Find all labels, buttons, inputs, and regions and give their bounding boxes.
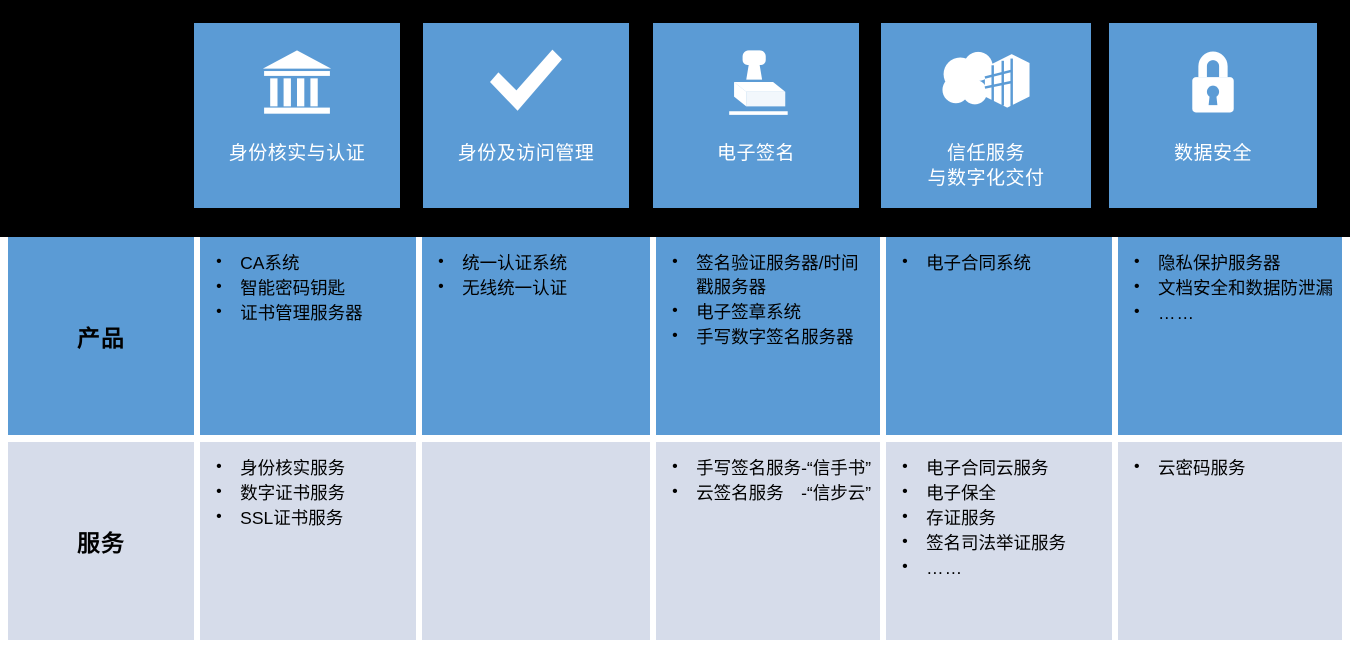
rubber-stamp-icon [653,23,859,141]
list-item: …… [1132,301,1334,325]
checkmark-icon [423,23,629,141]
bullet-list: 云密码服务 [1118,442,1342,480]
list-item: 签名司法举证服务 [900,531,1104,555]
slide-canvas: 身份核实与认证 身份及访问管理 电子签名 [0,0,1350,661]
table-cell-services-identity-access-management[interactable] [422,442,650,640]
list-item: 签名验证服务器/时间戳服务器 [670,251,872,299]
bullet-list [422,442,650,456]
table-row-products: 产品 CA系统 智能密码钥匙 证书管理服务器 统一认证系统 无线统一认证 签名验… [8,237,1342,435]
list-item: 身份核实服务 [214,456,408,480]
bullet-list: 统一认证系统 无线统一认证 [422,237,650,300]
capability-card-data-security[interactable]: 数据安全 [1109,23,1317,208]
padlock-icon [1109,23,1317,141]
table-cell-products-identity-access-management[interactable]: 统一认证系统 无线统一认证 [422,237,650,435]
bullet-list: 电子合同系统 [886,237,1112,275]
list-item: 数字证书服务 [214,481,408,505]
list-item: CA系统 [214,251,408,275]
list-item: 电子保全 [900,481,1104,505]
capability-card-label: 身份及访问管理 [458,141,595,166]
bullet-list: 身份核实服务 数字证书服务 SSL证书服务 [200,442,416,530]
bullet-list: 签名验证服务器/时间戳服务器 电子签章系统 手写数字签名服务器 [656,237,880,349]
list-item: 智能密码钥匙 [214,276,408,300]
list-item: 证书管理服务器 [214,301,408,325]
list-item: 电子合同系统 [900,251,1104,275]
bank-columns-icon [194,23,400,141]
bullet-list: 隐私保护服务器 文档安全和数据防泄漏 …… [1118,237,1342,325]
table-cell-services-data-security[interactable]: 云密码服务 [1118,442,1342,640]
capability-card-identity-verification[interactable]: 身份核实与认证 [194,23,400,208]
list-item: 无线统一认证 [436,276,642,300]
table-cell-products-electronic-signature[interactable]: 签名验证服务器/时间戳服务器 电子签章系统 手写数字签名服务器 [656,237,880,435]
product-service-matrix: 产品 CA系统 智能密码钥匙 证书管理服务器 统一认证系统 无线统一认证 签名验… [8,237,1342,640]
row-header-services: 服务 [8,442,194,640]
table-row-services: 服务 身份核实服务 数字证书服务 SSL证书服务 手写签名服务-“信手书” 云签… [8,442,1342,640]
list-item: 云密码服务 [1132,456,1334,480]
capability-card-electronic-signature[interactable]: 电子签名 [653,23,859,208]
list-item: 电子签章系统 [670,300,872,324]
list-item: 手写签名服务-“信手书” [670,456,872,480]
bullet-list: CA系统 智能密码钥匙 证书管理服务器 [200,237,416,325]
capability-card-label: 数据安全 [1174,141,1252,166]
list-item: 手写数字签名服务器 [670,325,872,349]
list-item: 存证服务 [900,506,1104,530]
table-cell-products-data-security[interactable]: 隐私保护服务器 文档安全和数据防泄漏 …… [1118,237,1342,435]
table-cell-services-identity-verification[interactable]: 身份核实服务 数字证书服务 SSL证书服务 [200,442,416,640]
list-item: 电子合同云服务 [900,456,1104,480]
list-item: 统一认证系统 [436,251,642,275]
list-item: 文档安全和数据防泄漏 [1132,276,1334,300]
row-header-products: 产品 [8,237,194,435]
capability-card-label: 身份核实与认证 [229,141,366,166]
capability-card-row: 身份核实与认证 身份及访问管理 电子签名 [0,23,1350,208]
list-item: 隐私保护服务器 [1132,251,1334,275]
capability-card-label: 信任服务 与数字化交付 [927,141,1044,191]
table-cell-services-trust-service[interactable]: 电子合同云服务 电子保全 存证服务 签名司法举证服务 …… [886,442,1112,640]
capability-card-identity-access-management[interactable]: 身份及访问管理 [423,23,629,208]
capability-card-trust-service[interactable]: 信任服务 与数字化交付 [881,23,1091,208]
cloud-building-icon [881,23,1091,141]
table-cell-products-identity-verification[interactable]: CA系统 智能密码钥匙 证书管理服务器 [200,237,416,435]
list-item: SSL证书服务 [214,506,408,530]
capability-card-label: 电子签名 [717,141,795,166]
list-item: 云签名服务 -“信步云” [670,481,872,505]
bullet-list: 电子合同云服务 电子保全 存证服务 签名司法举证服务 …… [886,442,1112,580]
list-item: …… [900,556,1104,580]
table-cell-services-electronic-signature[interactable]: 手写签名服务-“信手书” 云签名服务 -“信步云” [656,442,880,640]
table-cell-products-trust-service[interactable]: 电子合同系统 [886,237,1112,435]
bullet-list: 手写签名服务-“信手书” 云签名服务 -“信步云” [656,442,880,505]
